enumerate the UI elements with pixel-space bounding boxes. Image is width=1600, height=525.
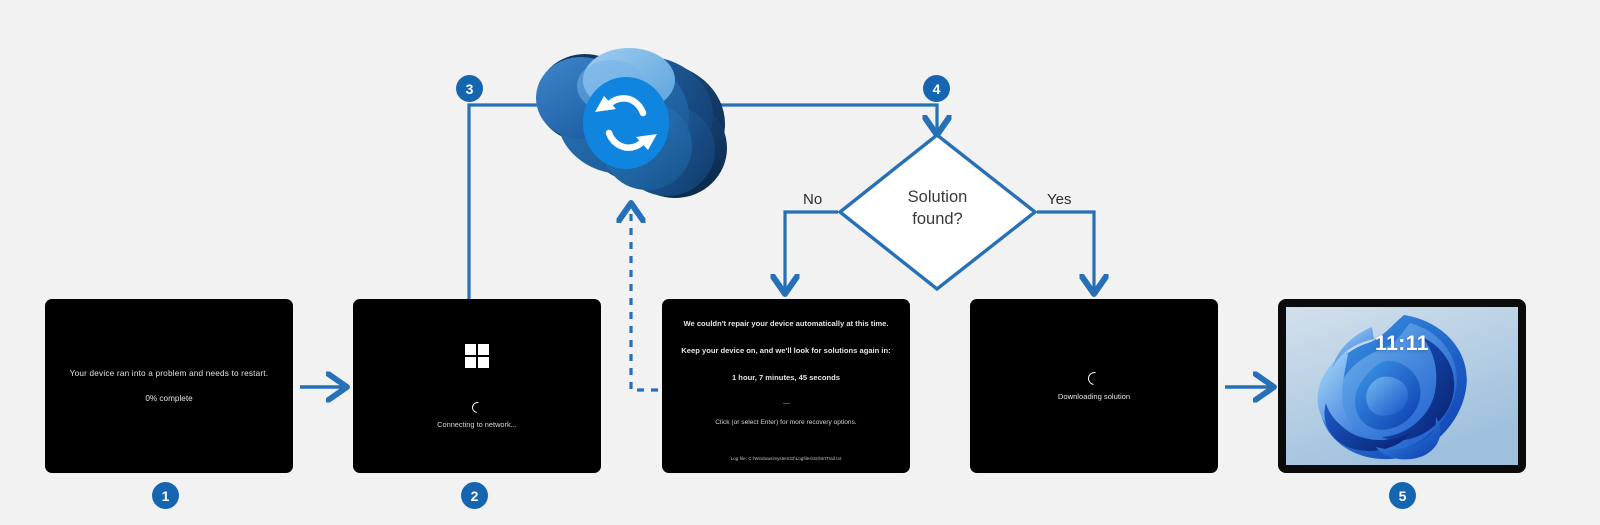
decision-label: Solution found? <box>855 186 1020 231</box>
branch-label-no: No <box>803 191 822 208</box>
windows-11-bloom-wallpaper: 11:11 <box>1286 307 1518 465</box>
loading-spinner-icon <box>1085 369 1103 387</box>
repair-retry-notice: Keep your device on, and we'll look for … <box>681 346 890 355</box>
bloom-artwork <box>1286 307 1518 465</box>
repair-countdown: 1 hour, 7 minutes, 45 seconds <box>732 373 840 382</box>
windows-desktop-screen: 11:11 <box>1278 299 1526 473</box>
loading-spinner-icon <box>469 399 484 414</box>
badge-5[interactable]: 5 <box>1389 482 1416 509</box>
bsod-message: Your device ran into a problem and needs… <box>70 369 269 378</box>
branch-label-yes: Yes <box>1047 191 1071 208</box>
bsod-restart-screen: Your device ran into a problem and needs… <box>45 299 293 473</box>
bsod-progress: 0% complete <box>145 394 192 403</box>
recovery-options-hint[interactable]: Click (or select Enter) for more recover… <box>715 419 856 426</box>
badge-2[interactable]: 2 <box>461 482 488 509</box>
badge-3[interactable]: 3 <box>456 75 483 102</box>
flowchart-canvas: Your device ran into a problem and needs… <box>0 0 1600 525</box>
connecting-status: Connecting to network... <box>437 420 517 429</box>
windows-logo-icon <box>465 344 489 368</box>
connecting-to-network-screen: Connecting to network... <box>353 299 601 473</box>
badge-1[interactable]: 1 <box>152 482 179 509</box>
decision-line-1: Solution <box>855 186 1020 208</box>
repair-failed-screen: We couldn't repair your device automatic… <box>662 299 910 473</box>
downloading-status: Downloading solution <box>1058 392 1130 401</box>
divider: — <box>783 398 790 407</box>
badge-4[interactable]: 4 <box>923 75 950 102</box>
log-file-path: Log file: C:\Windows\System32\Logfiles\S… <box>662 456 910 461</box>
decision-line-2: found? <box>855 208 1020 230</box>
desktop-clock: 11:11 <box>1286 332 1518 356</box>
downloading-solution-screen: Downloading solution <box>970 299 1218 473</box>
repair-failed-headline: We couldn't repair your device automatic… <box>683 319 888 328</box>
